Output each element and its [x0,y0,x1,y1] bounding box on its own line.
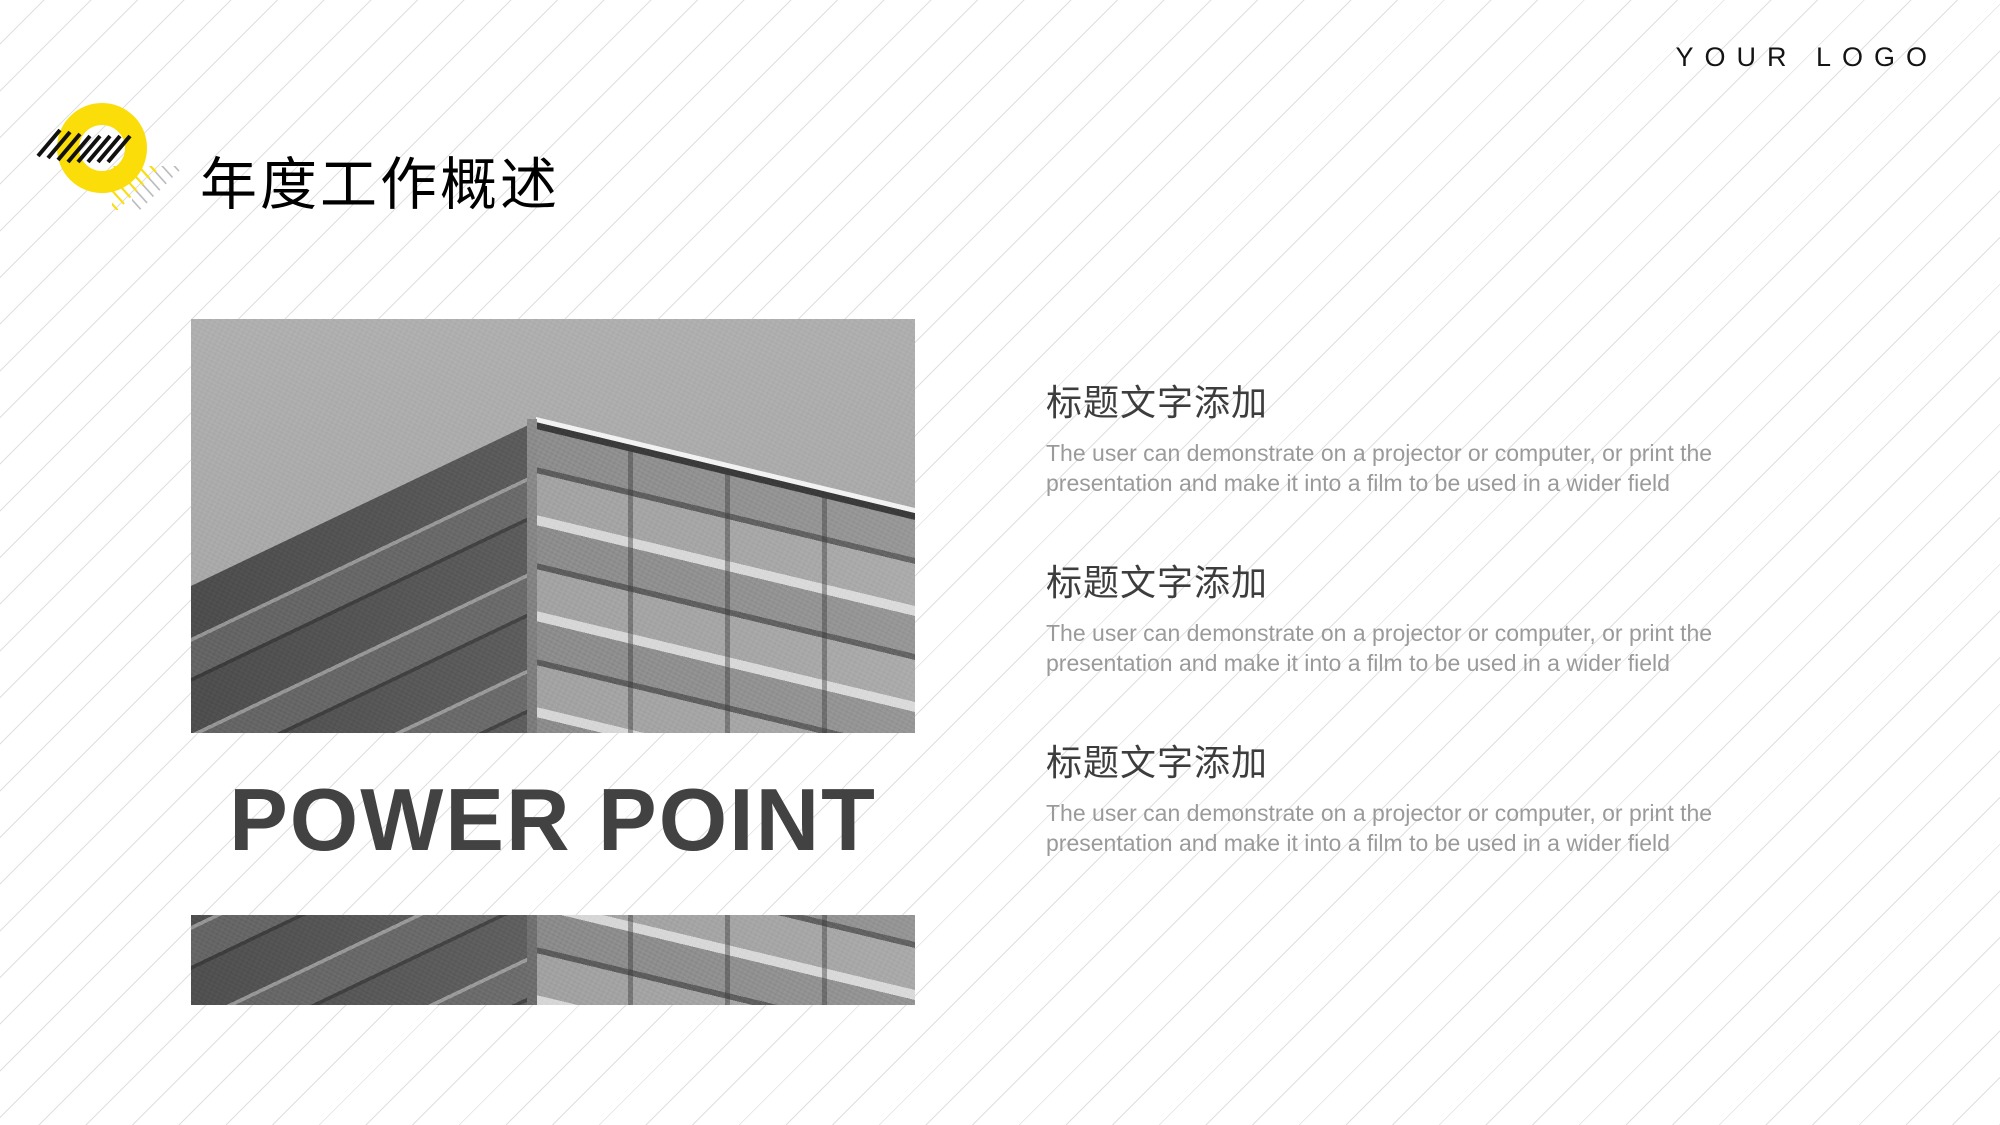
content-block-body: The user can demonstrate on a projector … [1046,618,1766,678]
building-photo-bottom [191,915,915,1005]
content-block-body: The user can demonstrate on a projector … [1046,438,1766,498]
building-photo-top [191,319,915,733]
page-title: 年度工作概述 [200,150,560,220]
content-block-heading: 标题文字添加 [1046,560,1786,606]
content-text-column: 标题文字添加 The user can demonstrate on a pro… [1046,380,1786,858]
slide-root: YOUR LOGO [0,0,2000,1125]
content-block: 标题文字添加 The user can demonstrate on a pro… [1046,560,1786,678]
content-block-heading: 标题文字添加 [1046,740,1786,786]
your-logo-text: YOUR LOGO [1675,42,1938,73]
content-block: 标题文字添加 The user can demonstrate on a pro… [1046,380,1786,498]
content-block: 标题文字添加 The user can demonstrate on a pro… [1046,740,1786,858]
power-point-wordmark: POWER POINT [191,770,915,870]
content-block-body: The user can demonstrate on a projector … [1046,798,1766,858]
content-block-heading: 标题文字添加 [1046,380,1786,426]
ring-hatch-logo-icon [34,92,184,210]
